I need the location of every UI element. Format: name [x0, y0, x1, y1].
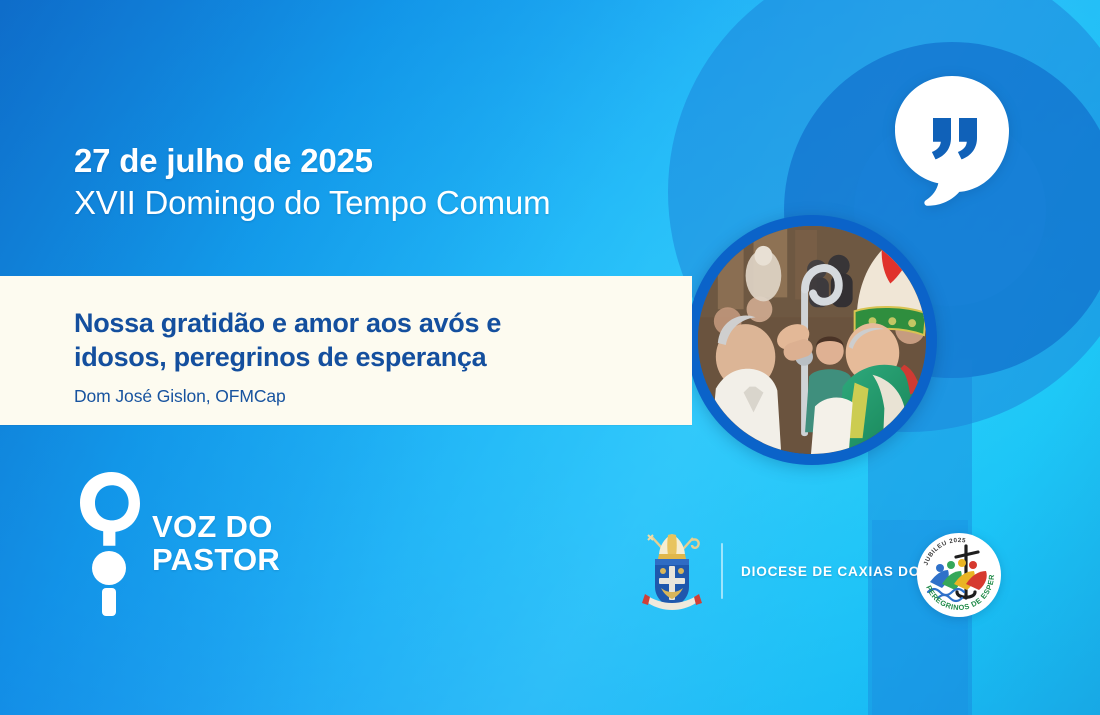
bishop-photo-circle — [687, 215, 937, 465]
quote-bubble-icon — [893, 74, 1011, 206]
diocese-divider — [721, 543, 723, 599]
diocese-lockup: DIOCESE DE CAXIAS DO SUL — [637, 528, 954, 614]
logo-line-1: VOZ DO — [152, 510, 280, 543]
banner-author: Dom José Gislon, OFMCap — [74, 386, 692, 407]
banner-title-line2: idosos, peregrinos de esperança — [74, 342, 486, 372]
logo-line-2: PASTOR — [152, 543, 280, 576]
banner-title: Nossa gratidão e amor aos avós e idosos,… — [74, 306, 594, 375]
diocese-coat-of-arms-icon — [637, 528, 707, 614]
date-text: 27 de julho de 2025 — [74, 142, 734, 181]
voz-do-pastor-logo: VOZ DO PASTOR — [78, 470, 338, 620]
banner-title-line1: Nossa gratidão e amor aos avós e — [74, 308, 501, 338]
voz-do-pastor-card: 27 de julho de 2025 XVII Domingo do Temp… — [0, 0, 1100, 715]
quote-banner: Nossa gratidão e amor aos avós e idosos,… — [0, 276, 692, 425]
crosier-icon — [78, 470, 144, 618]
date-block: 27 de julho de 2025 XVII Domingo do Temp… — [74, 142, 734, 223]
liturgical-day-text: XVII Domingo do Tempo Comum — [74, 183, 734, 223]
jubilee-2025-logo-icon: JUBILEU 2025 PEREGRINOS DE ESPERANÇA — [916, 532, 1002, 618]
bishop-blessing-photo — [698, 226, 926, 454]
voz-do-pastor-wordmark: VOZ DO PASTOR — [152, 510, 280, 577]
